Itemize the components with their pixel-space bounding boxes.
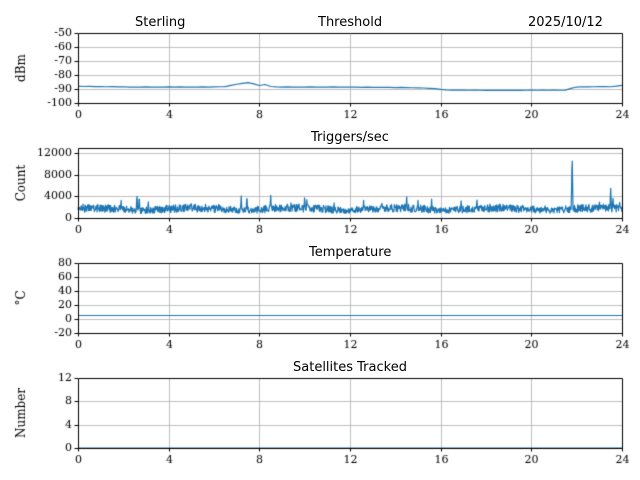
figure-container: Sterling 2025/10/12 Threshold Triggers/s… [0, 0, 640, 480]
multi-panel-chart-canvas [0, 0, 640, 480]
